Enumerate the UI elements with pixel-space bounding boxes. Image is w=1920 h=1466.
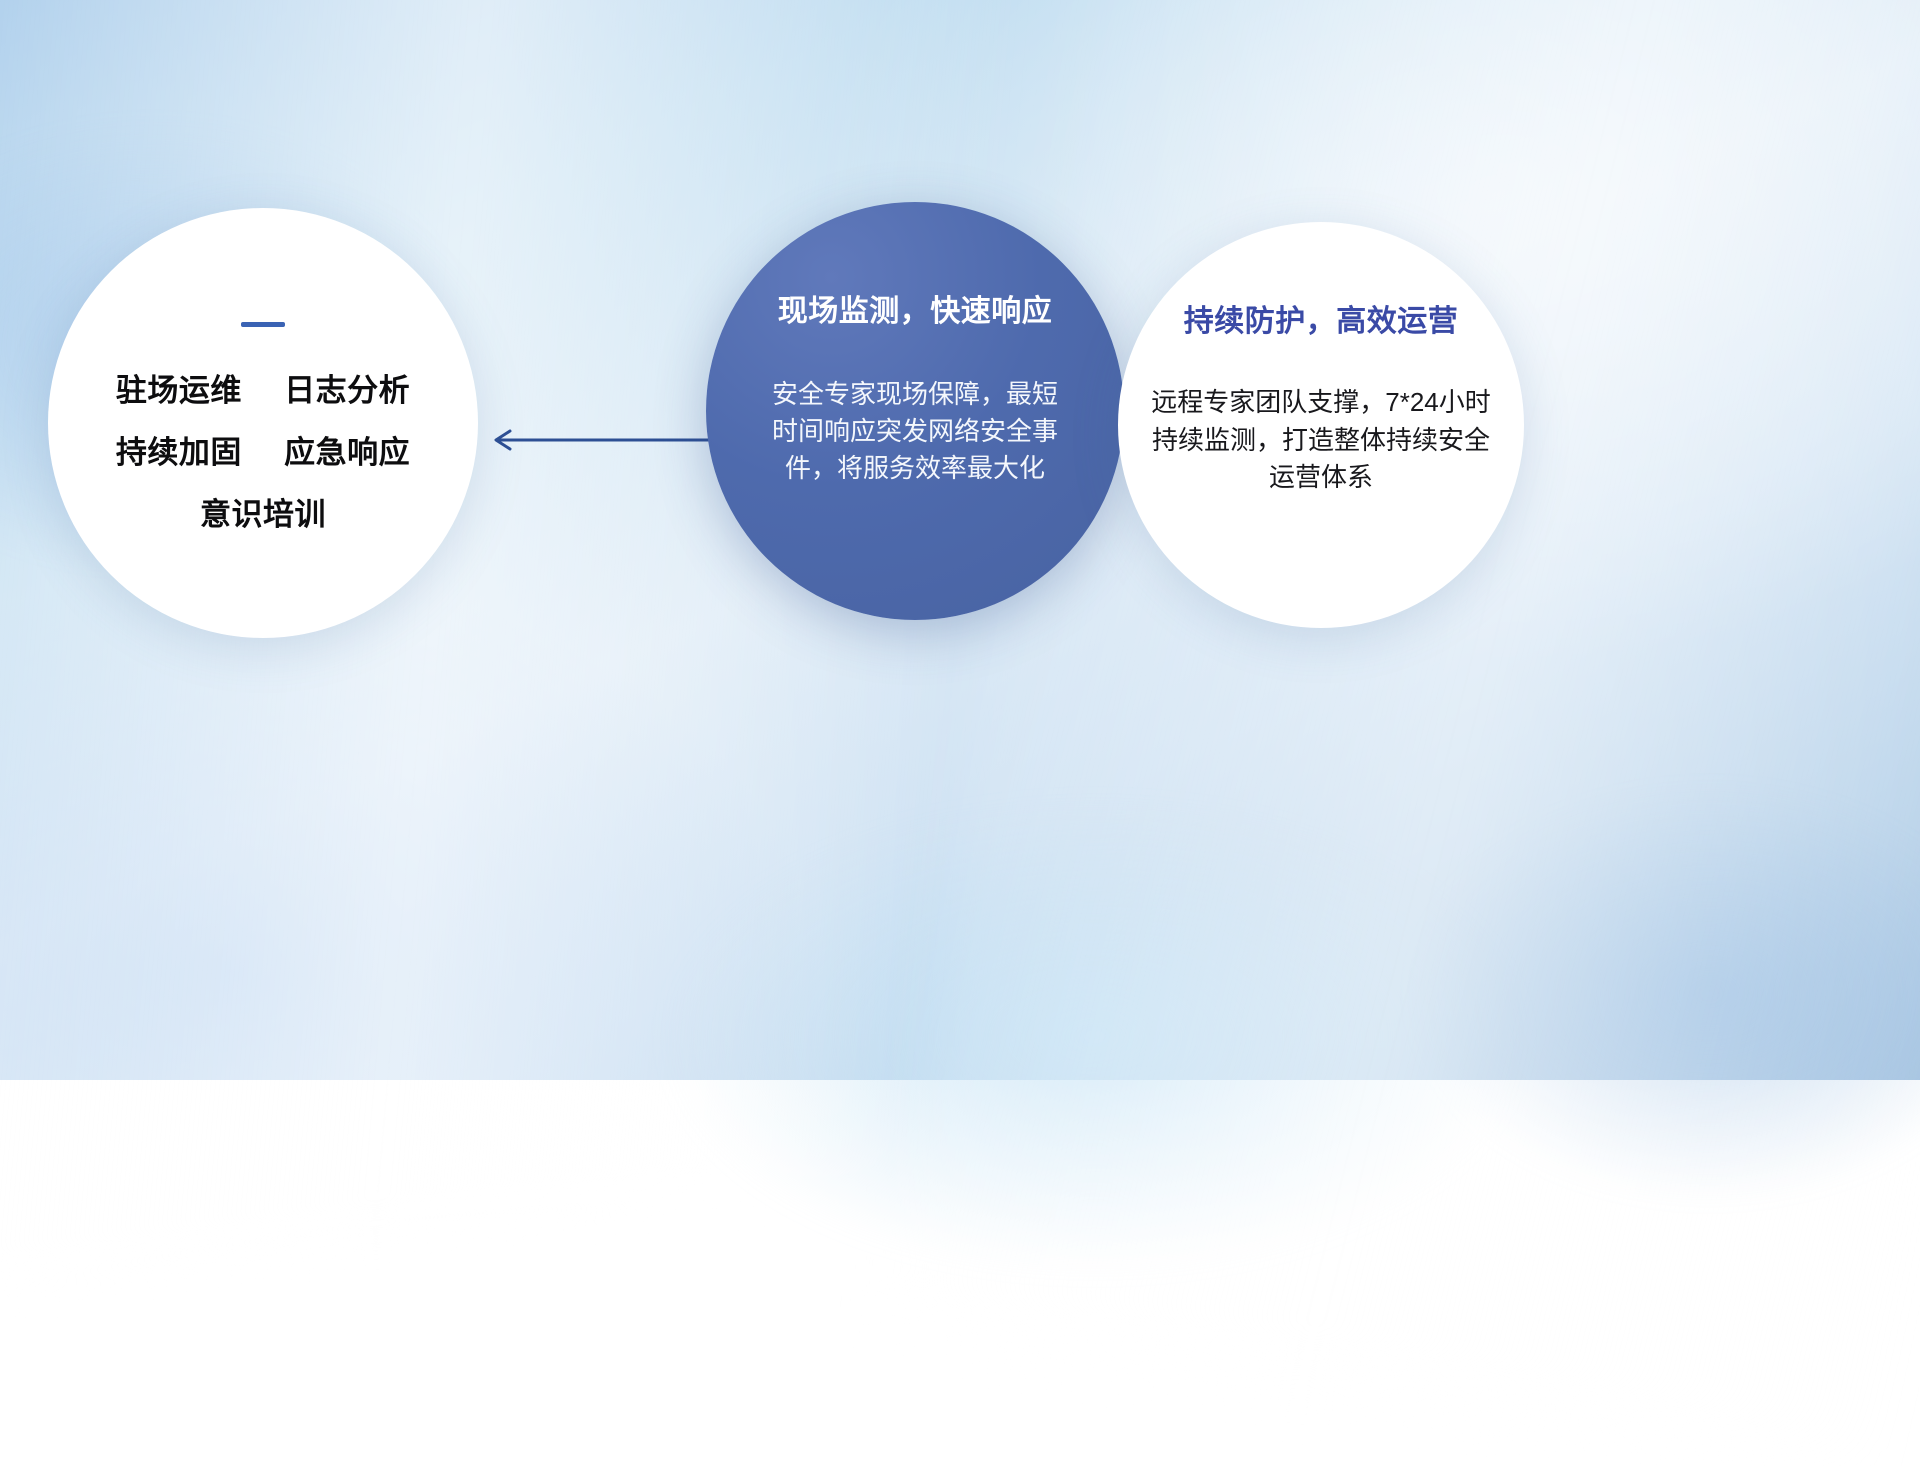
background-sheen-right <box>891 0 1920 1466</box>
continuous-protection-body: 远程专家团队支撑，7*24小时持续监测，打造整体持续安全运营体系 <box>1149 384 1493 497</box>
continuous-protection-circle: 持续防护，高效运营 远程专家团队支撑，7*24小时持续监测，打造整体持续安全运营… <box>1118 222 1524 628</box>
keyword-label: 应急响应 <box>284 435 410 470</box>
horizontal-dash-icon <box>241 322 285 327</box>
keyword-row: 持续加固 应急响应 <box>116 437 410 468</box>
onsite-monitoring-title: 现场监测，快速响应 <box>778 286 1053 330</box>
keyword-row: 驻场运维 日志分析 <box>116 375 410 406</box>
keyword-label: 日志分析 <box>284 373 410 408</box>
keyword-list: 驻场运维 日志分析 持续加固 应急响应 意识培训 <box>116 375 410 530</box>
left-keyword-circle: 驻场运维 日志分析 持续加固 应急响应 意识培训 <box>48 208 478 638</box>
keyword-label: 意识培训 <box>200 497 326 532</box>
keyword-row: 意识培训 <box>116 499 410 530</box>
left-arrow-icon <box>484 424 716 456</box>
keyword-label: 持续加固 <box>116 435 242 470</box>
onsite-monitoring-body: 安全专家现场保障，最短时间响应突发网络安全事件，将服务效率最大化 <box>772 376 1058 487</box>
continuous-protection-title: 持续防护，高效运营 <box>1184 296 1459 340</box>
onsite-monitoring-circle: 现场监测，快速响应 安全专家现场保障，最短时间响应突发网络安全事件，将服务效率最… <box>706 202 1124 620</box>
keyword-label: 驻场运维 <box>116 373 242 408</box>
